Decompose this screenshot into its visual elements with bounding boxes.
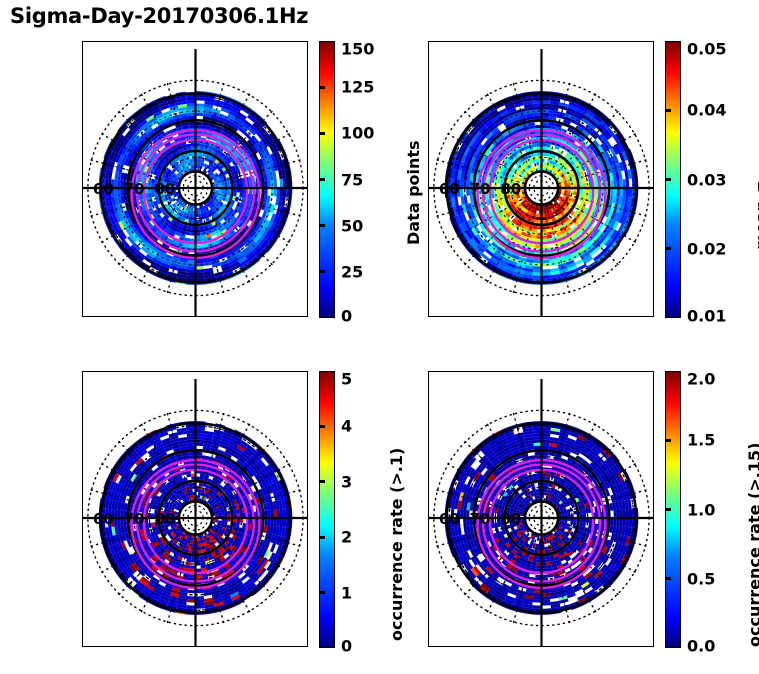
latitude-tick-label: 80: [154, 510, 175, 528]
colorbar-tick-label: 2: [341, 528, 352, 547]
latitude-tick-label: 60: [439, 180, 460, 198]
colorbar-title-data-points: Data points: [404, 140, 423, 245]
latitude-tick-label: 70: [124, 180, 145, 198]
colorbar-tick-label: 1.5: [687, 431, 715, 450]
colorbar-tick-label: 0: [341, 637, 352, 656]
colorbar-tick: [665, 178, 671, 181]
latitude-tick-label: 70: [470, 510, 491, 528]
colorbar-tick-label: 100: [341, 124, 374, 143]
colorbar-tick-label: 4: [341, 417, 352, 436]
colorbar-tick-label: 2.0: [687, 370, 715, 389]
colorbar-tick: [319, 480, 325, 483]
latitude-tick-label: 80: [500, 510, 521, 528]
colorbar-tick-label: 25: [341, 262, 363, 281]
latitude-tick-label: 80: [500, 180, 521, 198]
colorbar-tick: [665, 109, 671, 112]
colorbar-occurrence-rate-015: 0.00.51.01.52.0: [665, 371, 681, 648]
polar-plot-mean-sigma-phi: 607080: [428, 41, 654, 317]
colorbar-tick-label: 0.0: [687, 637, 715, 656]
sigma-symbol: σ: [752, 182, 759, 194]
figure-title: Sigma-Day-20170306.1Hz: [10, 4, 308, 28]
colorbar-tick-label: 0.05: [687, 40, 726, 59]
colorbar-title-text: mean: [752, 200, 759, 250]
colorbar-tick-label: 75: [341, 170, 363, 189]
latitude-tick-label: 70: [124, 510, 145, 528]
colorbar-tick: [319, 86, 325, 89]
panel-data-points: 607080: [82, 41, 308, 317]
colorbar-tick: [665, 439, 671, 442]
colorbar-tick-label: 125: [341, 78, 374, 97]
colorbar-tick: [319, 591, 325, 594]
colorbar-tick-label: 5: [341, 370, 352, 389]
colorbar-tick: [665, 508, 671, 511]
colorbar-tick-label: 0.02: [687, 239, 726, 258]
colorbar-tick: [319, 132, 325, 135]
colorbar-mean-sigma-phi: 0.010.020.030.040.05: [665, 41, 681, 318]
colorbar-tick-label: 50: [341, 216, 363, 235]
colorbar-tick: [319, 536, 325, 539]
latitude-tick-label: 60: [93, 180, 114, 198]
colorbar-tick-label: 1.0: [687, 500, 715, 519]
colorbar-title-mean-sigma-phi: mean σφ: [752, 174, 759, 250]
polar-plot-occurrence-rate-015: 607080: [428, 371, 654, 647]
colorbar-tick-label: 0.01: [687, 307, 726, 326]
colorbar-tick: [319, 425, 325, 428]
latitude-tick-label: 80: [154, 180, 175, 198]
colorbar-data-points: 0255075100125150: [319, 41, 335, 318]
colorbar-tick: [319, 224, 325, 227]
latitude-tick-label: 60: [93, 510, 114, 528]
polar-plot-data-points: 607080: [82, 41, 308, 317]
figure-canvas: Sigma-Day-20170306.1Hz 607080 0255075100…: [0, 0, 759, 674]
colorbar-title-occurrence-rate-01: occurrence rate (>.1): [387, 448, 406, 641]
colorbar-occurrence-rate-01: 012345: [319, 371, 335, 648]
latitude-tick-label: 60: [439, 510, 460, 528]
panel-occurrence-rate-01: 607080: [82, 371, 308, 647]
colorbar-tick: [319, 270, 325, 273]
colorbar-tick: [665, 577, 671, 580]
colorbar-tick-label: 1: [341, 583, 352, 602]
colorbar-title-occurrence-rate-015: occurrence rate (>.15): [745, 443, 759, 647]
colorbar-gradient: [319, 371, 335, 648]
panel-occurrence-rate-015: 607080: [428, 371, 654, 647]
polar-plot-occurrence-rate-01: 607080: [82, 371, 308, 647]
colorbar-tick-label: 0.04: [687, 101, 726, 120]
colorbar-tick-label: 3: [341, 472, 352, 491]
colorbar-tick: [319, 178, 325, 181]
colorbar-tick-label: 150: [341, 40, 374, 59]
colorbar-tick: [665, 247, 671, 250]
colorbar-tick-label: 0: [341, 307, 352, 326]
latitude-tick-label: 70: [470, 180, 491, 198]
colorbar-tick-label: 0.5: [687, 569, 715, 588]
colorbar-tick-label: 0.03: [687, 170, 726, 189]
panel-mean-sigma-phi: 607080: [428, 41, 654, 317]
